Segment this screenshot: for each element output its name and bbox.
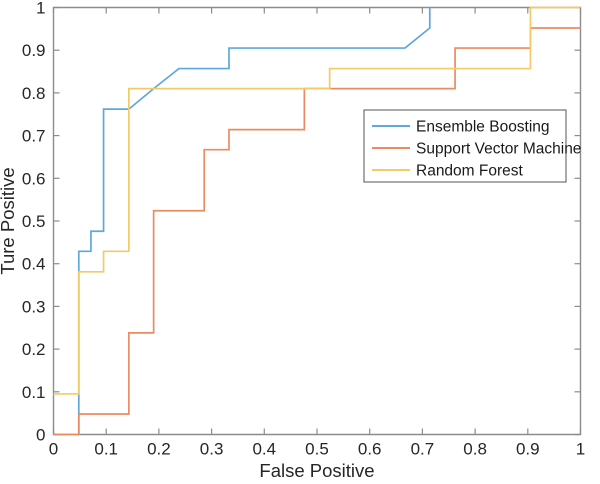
y-tick-label: 0 [36,426,45,445]
y-tick-label: 0.6 [22,169,46,188]
roc-curve-figure: 00.10.20.30.40.50.60.70.80.91 00.10.20.3… [0,0,600,484]
roc-plot-svg: 00.10.20.30.40.50.60.70.80.91 00.10.20.3… [0,0,600,484]
x-tick-label: 0.6 [358,440,382,459]
y-tick-label: 0.8 [22,84,46,103]
roc-curve-ensemble-boosting [79,8,430,435]
legend-label: Ensemble Boosting [416,119,550,136]
x-tick-label: 0.2 [147,440,171,459]
x-axis-tick-labels: 00.10.20.30.40.50.60.70.80.91 [49,440,585,459]
legend-label: Support Vector Machine [416,141,581,158]
y-tick-label: 0.7 [22,127,46,146]
legend-label: Random Forest [416,163,524,180]
y-tick-label: 0.1 [22,383,46,402]
y-tick-label: 0.2 [22,340,46,359]
x-tick-label: 1 [576,440,585,459]
x-tick-label: 0.1 [94,440,118,459]
x-tick-label: 0 [49,440,58,459]
legend: Ensemble BoostingSupport Vector MachineR… [364,110,581,182]
x-tick-label: 0.8 [463,440,487,459]
y-tick-label: 0.3 [22,297,46,316]
y-tick-label: 1 [36,0,45,18]
x-axis-title: False Positive [259,460,374,481]
axes-box [54,8,581,435]
x-tick-label: 0.7 [411,440,435,459]
roc-curve-random-forest [54,8,581,394]
x-tick-label: 0.9 [516,440,540,459]
roc-curves [54,8,581,435]
x-tick-label: 0.3 [200,440,224,459]
y-axis-title: Ture Positive [0,167,18,274]
x-axis-tick-marks [54,8,581,435]
y-axis-tick-labels: 00.10.20.30.40.50.60.70.80.91 [22,0,46,445]
y-tick-label: 0.9 [22,41,46,60]
axes-frame [54,8,581,435]
y-tick-label: 0.4 [22,255,46,274]
x-tick-label: 0.5 [305,440,329,459]
y-axis-tick-marks [54,8,581,435]
y-tick-label: 0.5 [22,212,46,231]
x-tick-label: 0.4 [252,440,276,459]
